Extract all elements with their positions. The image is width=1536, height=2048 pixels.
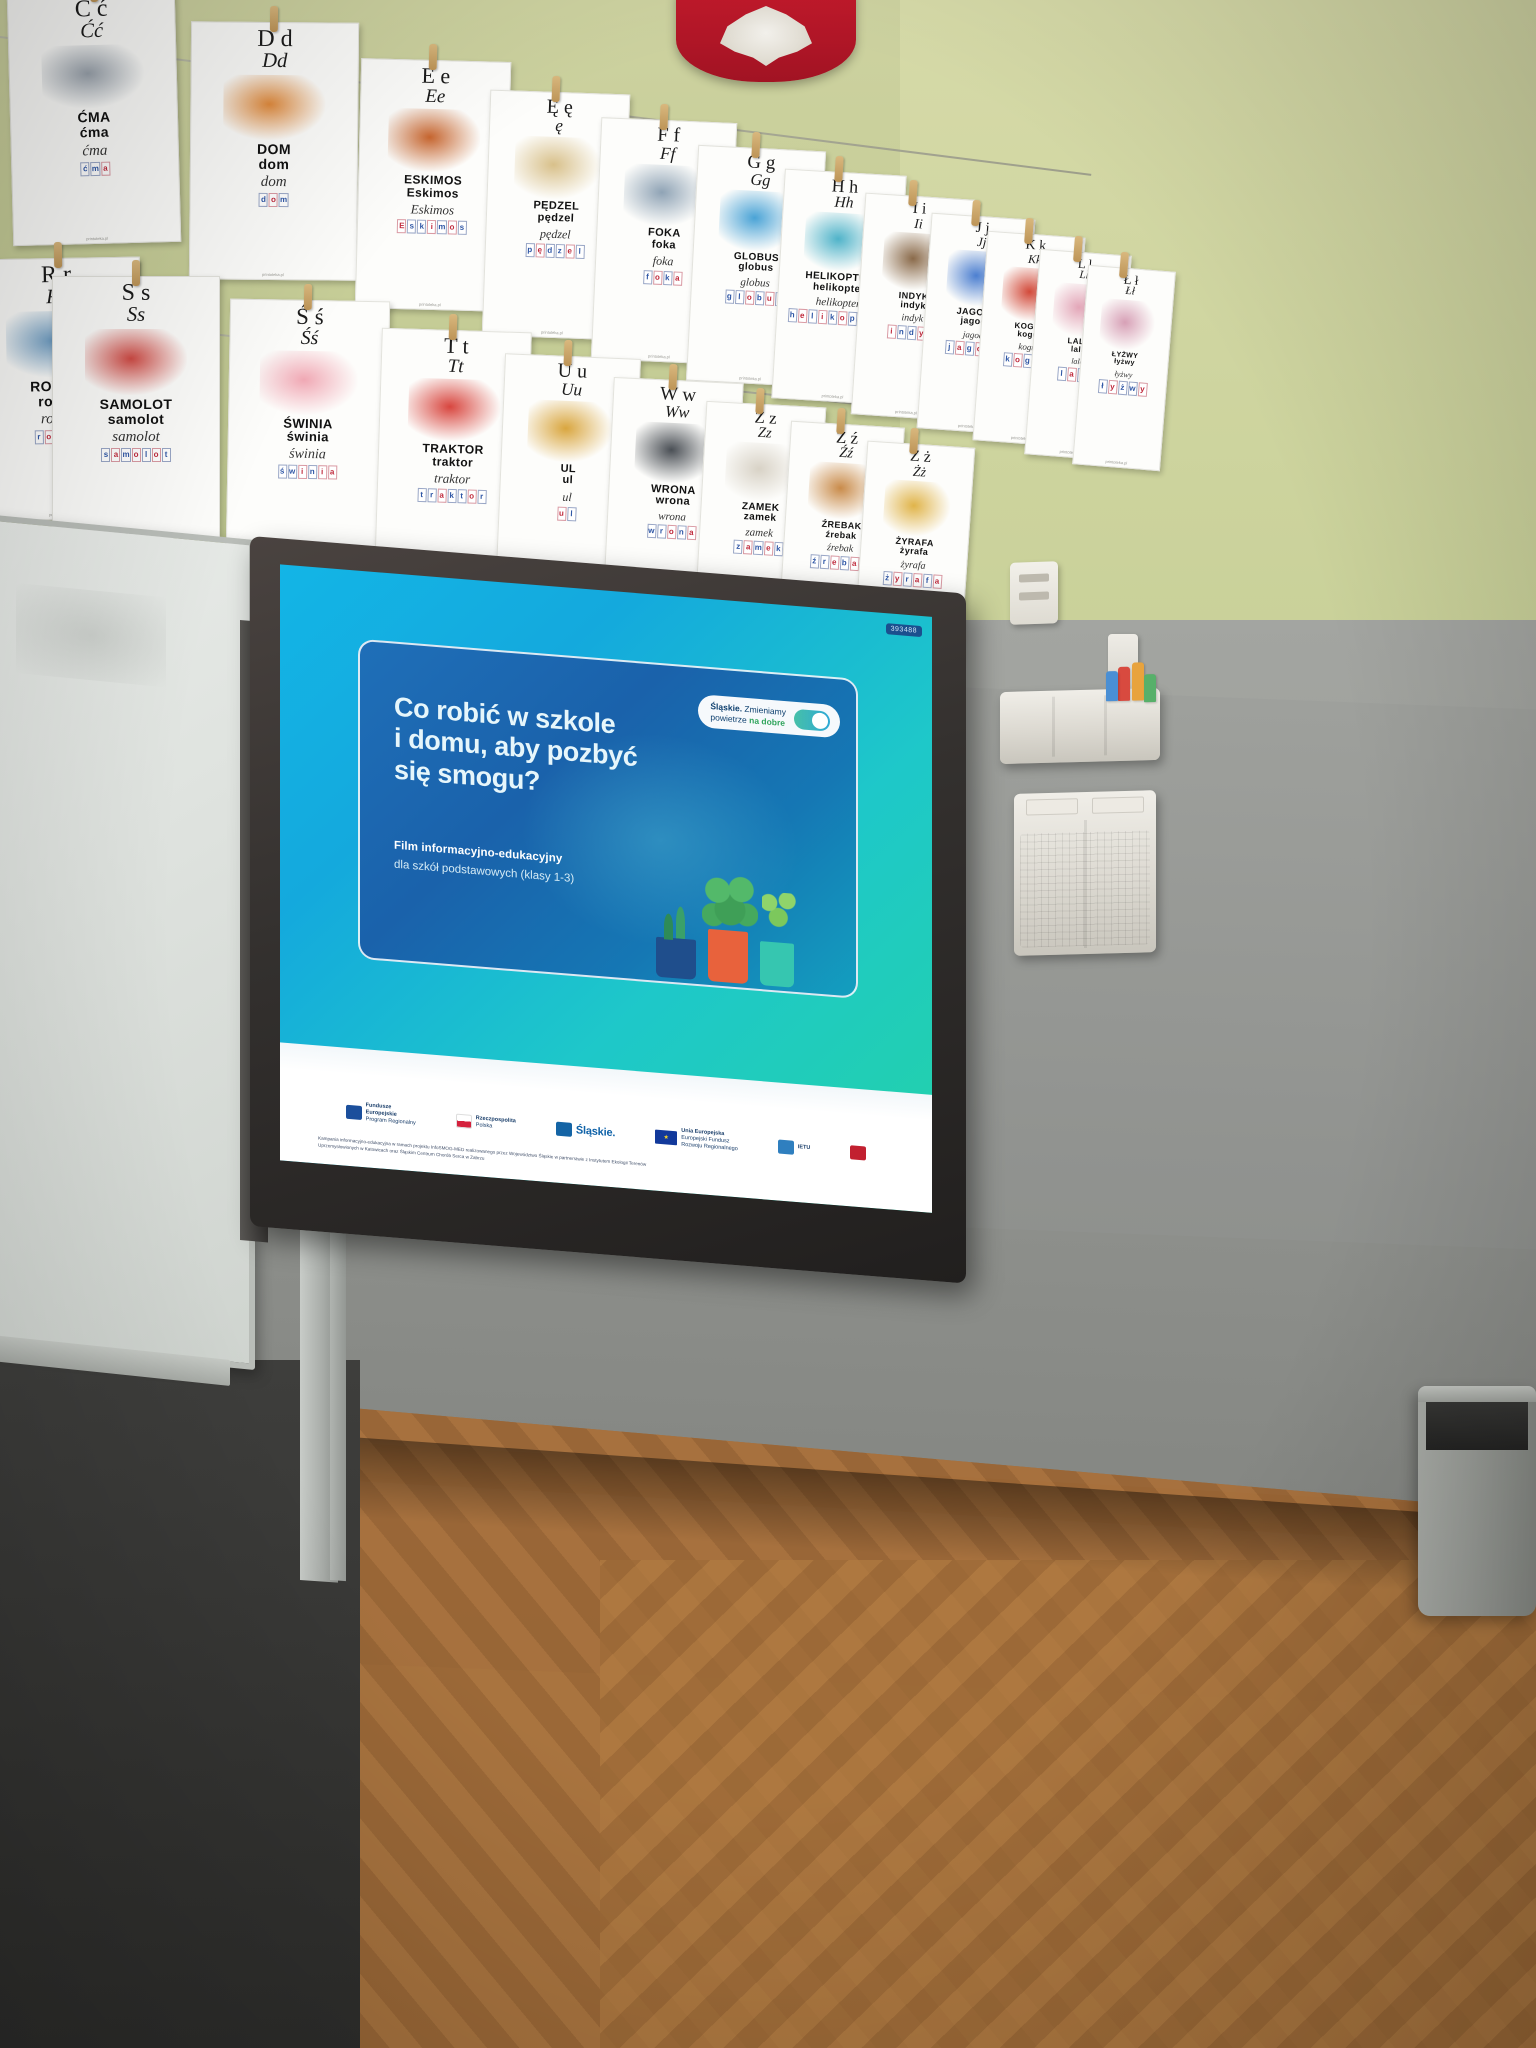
card-brand: printoteka.pl <box>895 409 917 417</box>
letter-tile: ć <box>81 162 90 176</box>
letter-tile: b <box>754 291 764 305</box>
card-word: PĘDZELpędzel <box>533 201 580 226</box>
alphabet-card: D dDdDOMdomdomdomprintoteka.pl <box>189 21 359 280</box>
letter-tile: a <box>111 448 120 462</box>
clothespin-icon <box>270 6 278 32</box>
letter-tile: k <box>417 220 426 234</box>
clothespin-icon <box>668 364 677 390</box>
letter-tile: i <box>886 325 896 340</box>
clothespin-icon <box>755 388 764 414</box>
letter-tile: o <box>152 448 161 462</box>
clothespin-icon <box>54 242 62 268</box>
letter-tile: r <box>657 524 667 538</box>
card-letter: H hHh <box>830 176 858 212</box>
card-letter-tiles: globus <box>725 289 785 306</box>
card-script-word: globus <box>740 276 770 290</box>
alphabet-card: Ć ćĆćĆMAćmaćmaćmaprintoteka.pl <box>7 0 182 246</box>
display-screen[interactable]: 393488 Co robić w szkole i domu, aby poz… <box>280 564 932 1212</box>
pot-orange <box>708 929 748 984</box>
letter-tile: a <box>686 526 696 540</box>
letter-tile: y <box>1107 380 1117 395</box>
logo-rzeczpospolita-polska: Rzeczpospolita Polska <box>456 1113 516 1132</box>
card-letter: S sSs <box>122 281 151 327</box>
card-script-word: źrebak <box>827 542 854 555</box>
letter-tile: r <box>34 431 43 445</box>
card-letter-tiles: samolot <box>101 448 170 462</box>
house-icon <box>223 74 326 140</box>
card-script-word: żyrafa <box>900 559 926 572</box>
giraffe-icon <box>882 479 951 538</box>
letter-tile: r <box>902 572 912 587</box>
card-letter-tiles: łyżwy <box>1097 379 1147 397</box>
letter-tile: a <box>743 540 753 554</box>
storage-caddy[interactable] <box>1014 790 1156 956</box>
card-word: ŚWINIAświnia <box>283 416 333 444</box>
slaskie-label: Śląskie. <box>576 1124 615 1139</box>
card-letter: E eEe <box>421 65 451 107</box>
card-script-word: traktor <box>434 471 471 488</box>
caddy-label-1 <box>1026 798 1078 815</box>
alphabet-frieze: Ć ćĆćĆMAćmaćmaćmaprintoteka.plD dDdDOMdo… <box>0 0 1536 620</box>
plants-illustration <box>650 820 820 994</box>
letter-tile: a <box>101 161 110 175</box>
card-script-word: dom <box>261 174 287 191</box>
badge-line2: powietrze <box>710 712 749 725</box>
card-script-word: pędzel <box>540 227 571 243</box>
letter-tile: a <box>673 272 683 286</box>
letter-tile: l <box>142 448 151 462</box>
clothespin-icon <box>449 314 458 340</box>
alphabet-card: Ł łŁłŁYŻWYłyżwyłyżwyłyżwyprintoteka.pl <box>1072 265 1176 471</box>
letter-tile: k <box>1002 353 1012 368</box>
letter-tile: e <box>565 245 574 259</box>
outlet-slot-1 <box>1019 573 1049 582</box>
plant-grass-2 <box>676 906 685 939</box>
letter-tile: m <box>91 162 100 176</box>
letter-tile: i <box>427 220 436 234</box>
ietu-mark-icon <box>778 1139 794 1154</box>
card-word: FOKAfoka <box>647 228 681 253</box>
alphabet-card: Ś śŚśŚWINIAświniaświniaświniaprintoteka.… <box>226 299 390 554</box>
card-letter-tiles: świnia <box>278 464 337 479</box>
card-letter-tiles: Eskimos <box>397 219 466 235</box>
tractor-icon <box>408 377 502 442</box>
letter-tile: ł <box>1097 379 1107 394</box>
eu-flag-icon <box>655 1129 677 1145</box>
letter-tile: o <box>653 271 663 285</box>
logo-partner-red <box>850 1145 866 1160</box>
letter-tile: w <box>1127 381 1137 396</box>
letter-tile: o <box>837 311 847 326</box>
caddy-mesh-texture <box>1020 830 1150 947</box>
letter-tile: e <box>797 309 807 324</box>
card-letter-tiles: foka <box>643 271 683 287</box>
letter-tile: i <box>817 310 827 325</box>
letter-tile: r <box>427 489 436 503</box>
letter-tile: d <box>545 244 554 258</box>
card-script-word: ul <box>562 490 572 505</box>
card-brand: printoteka.pl <box>262 272 284 279</box>
letter-tile: d <box>906 326 916 341</box>
fundusze-label: Fundusze Europejskie Program Regionalny <box>366 1103 416 1128</box>
card-letter: Ć ćĆć <box>74 0 108 43</box>
card-brand: printoteka.pl <box>821 393 843 401</box>
whiteboard[interactable] <box>0 514 255 1370</box>
letter-tile: j <box>944 340 954 355</box>
letter-tile: l <box>567 507 577 521</box>
letter-tile: e <box>829 556 839 571</box>
parquet-floor-detail <box>600 1560 1536 2048</box>
card-word: ŻYRAFAżyrafa <box>895 537 935 558</box>
slaskie-mark-icon <box>556 1121 572 1136</box>
letter-tile: n <box>896 325 906 340</box>
card-word: DOMdom <box>257 142 291 172</box>
card-script-word: łyżwy <box>1114 369 1132 379</box>
letter-tile: m <box>279 193 288 207</box>
display-bezel: 393488 Co robić w szkole i domu, aby poz… <box>250 536 966 1284</box>
letter-tile: l <box>575 245 584 259</box>
card-brand: printoteka.pl <box>648 353 670 361</box>
letter-tile: f <box>643 271 653 285</box>
waste-bin[interactable] <box>1418 1386 1536 1616</box>
logo-slaskie: Śląskie. <box>556 1121 615 1140</box>
moth-icon <box>41 43 146 110</box>
card-script-word: indyk <box>901 313 923 325</box>
letter-tile: s <box>407 220 416 234</box>
card-script-word: samolot <box>112 429 160 446</box>
letter-tile: n <box>676 525 686 539</box>
plant-bush <box>702 870 758 937</box>
power-outlet[interactable] <box>1010 561 1058 625</box>
card-script-word: Eskimos <box>410 202 454 219</box>
card-script-word: foka <box>652 254 673 270</box>
letter-tile: t <box>457 489 466 503</box>
letter-tile: E <box>397 219 406 233</box>
letter-tile: p <box>847 312 857 327</box>
caddy-divider-2 <box>1104 695 1107 755</box>
card-letter-tiles: zamek <box>733 540 783 557</box>
letter-tile: g <box>964 341 974 356</box>
card-word: WRONAwrona <box>650 484 696 509</box>
card-script-word: wrona <box>658 510 686 523</box>
letter-tile: u <box>764 291 774 305</box>
marker-orange[interactable] <box>1132 662 1144 700</box>
eskimo-icon <box>387 108 480 174</box>
logo-ietu: IETU <box>778 1139 811 1156</box>
slide-headline: Co robić w szkole i domu, aby pozbyć się… <box>394 692 724 812</box>
card-letter-tiles: traktor <box>417 488 486 504</box>
pot-teal <box>760 941 794 988</box>
letter-tile: u <box>557 506 567 520</box>
card-word: ZAMEKzamek <box>741 502 780 525</box>
letter-tile: r <box>477 490 486 504</box>
letter-tile: z <box>555 244 564 258</box>
letter-tile: a <box>328 465 337 479</box>
screen-code-badge: 393488 <box>886 623 922 637</box>
card-letter: G gGg <box>746 152 776 189</box>
letter-tile: m <box>753 541 763 555</box>
letter-tile: f <box>922 573 932 588</box>
clothespin-icon <box>836 408 846 434</box>
ietu-label: IETU <box>798 1144 811 1152</box>
card-letter: U uUu <box>557 360 588 399</box>
clothespin-icon <box>751 132 760 158</box>
letter-tile: ś <box>278 464 287 478</box>
ice-skates-icon <box>1099 298 1156 353</box>
letter-tile: ż <box>882 571 892 586</box>
rp-label: Rzeczpospolita Polska <box>476 1115 516 1132</box>
pot-blue <box>656 937 696 980</box>
caddy-divider-1 <box>1052 697 1055 757</box>
fundusze-mark-icon <box>346 1104 362 1119</box>
letter-tile: a <box>1066 368 1076 383</box>
card-script-word: helikopter <box>815 296 860 311</box>
letter-tile: m <box>121 448 130 462</box>
card-brand: printoteka.pl <box>739 375 761 383</box>
letter-tile: a <box>437 489 446 503</box>
whiteboard-smudge <box>16 583 166 687</box>
clothespin-icon <box>908 180 918 206</box>
caddy-label-2 <box>1092 796 1144 813</box>
letter-tile: g <box>725 289 735 303</box>
slide-footer-band: Fundusze Europejskie Program Regionalny … <box>280 1042 932 1212</box>
letter-tile: ź <box>809 554 819 569</box>
letter-tile: o <box>269 193 278 207</box>
clothespin-icon <box>659 104 668 130</box>
card-letter-tiles: pędzel <box>525 243 584 259</box>
logo-unia-europejska: Unia Europejska Europejski Fundusz Rozwo… <box>655 1126 738 1153</box>
outlet-slot-2 <box>1019 591 1049 600</box>
plant-grass-1 <box>664 913 673 940</box>
polish-flag-icon <box>456 1113 472 1128</box>
letter-tile: o <box>132 448 141 462</box>
card-word: GLOBUSglobus <box>733 252 779 275</box>
letter-tile: d <box>259 193 268 207</box>
card-brand: printoteka.pl <box>1105 459 1127 468</box>
partner-mark-icon <box>850 1145 866 1160</box>
card-letter-tiles: wrona <box>647 524 697 540</box>
letter-tile: k <box>827 311 837 326</box>
letter-tile: o <box>1012 353 1022 368</box>
card-letter: W wWw <box>659 384 697 422</box>
letter-tile: ż <box>1117 380 1127 395</box>
card-word: ULul <box>560 463 576 487</box>
card-word: ESKIMOSEskimos <box>404 173 463 200</box>
card-letter: T tTt <box>443 335 469 377</box>
card-letter-tiles: dom <box>259 193 288 207</box>
card-word: SAMOLOTsamolot <box>100 397 173 426</box>
ue-label: Unia Europejska Europejski Fundusz Rozwo… <box>681 1128 738 1153</box>
clothespin-icon <box>132 260 140 286</box>
letter-tile: y <box>892 571 902 586</box>
plant-sprout <box>762 891 796 948</box>
letter-tile: e <box>763 541 773 555</box>
letter-tile: l <box>734 290 744 304</box>
badge-text: Śląskie. Zmieniamy powietrze na dobre <box>710 701 786 728</box>
card-letter-tiles: ul <box>557 506 577 521</box>
card-letter: D dDd <box>257 27 293 73</box>
bin-rim <box>1418 1386 1536 1402</box>
alphabet-card: S sSsSAMOLOTsamolotsamolotsamolotprintot… <box>52 276 220 538</box>
clothespin-icon <box>552 76 561 102</box>
marker-green[interactable] <box>1144 674 1156 702</box>
letter-tile: k <box>447 489 456 503</box>
letter-tile: h <box>787 308 797 323</box>
letter-tile: n <box>308 465 317 479</box>
letter-tile: b <box>839 556 849 571</box>
card-brand: printoteka.pl <box>419 302 441 310</box>
letter-tile: o <box>467 490 476 504</box>
card-word: TRAKTORtraktor <box>422 442 484 469</box>
letter-tile: y <box>1137 382 1147 397</box>
pig-icon <box>259 350 358 416</box>
letter-tile: s <box>457 221 466 235</box>
letter-tile: t <box>417 488 426 502</box>
letter-tile: s <box>101 448 110 462</box>
slide-card: Co robić w szkole i domu, aby pozbyć się… <box>358 639 858 999</box>
marker-caddy[interactable] <box>1000 688 1160 764</box>
letter-tile: l <box>1056 367 1066 382</box>
card-script-word: zamek <box>745 526 773 540</box>
card-brand: printoteka.pl <box>541 330 563 338</box>
card-script-word: ćma <box>82 143 107 161</box>
marker-blue[interactable] <box>1106 671 1118 701</box>
logo-fundusze-europejskie: Fundusze Europejskie Program Regionalny <box>346 1101 416 1127</box>
card-letter: F fFf <box>656 125 680 164</box>
letter-tile: a <box>912 573 922 588</box>
letter-tile: p <box>525 243 534 257</box>
card-letter: Ś śŚś <box>296 305 324 349</box>
card-letter: Ę ęę <box>546 97 573 136</box>
letter-tile: l <box>807 310 817 325</box>
letter-tile: t <box>162 448 171 462</box>
marker-red[interactable] <box>1118 667 1130 701</box>
card-word: ŹREBAKźrebak <box>821 520 862 541</box>
letter-tile: z <box>733 540 743 554</box>
card-script-word: świnia <box>289 447 326 464</box>
badge-line2-accent: na dobre <box>749 715 785 728</box>
letter-tile: i <box>318 465 327 479</box>
clothespin-icon <box>834 156 844 182</box>
letter-tile: i <box>298 465 307 479</box>
letter-tile: o <box>447 221 456 235</box>
toggle-switch-icon[interactable] <box>794 708 830 731</box>
clothespin-icon <box>563 340 572 366</box>
card-word: ŁYŻWYłyżwy <box>1111 351 1139 368</box>
clothespin-icon <box>304 284 312 310</box>
letter-tile: ę <box>535 244 544 258</box>
card-letter-tiles: żyrafa <box>882 571 942 589</box>
letter-tile: a <box>954 341 964 356</box>
letter-tile: w <box>288 465 297 479</box>
interactive-display[interactable]: 393488 Co robić w szkole i domu, aby poz… <box>250 536 966 1284</box>
letter-tile: m <box>437 220 446 234</box>
letter-tile: o <box>744 290 754 304</box>
card-brand: printoteka.pl <box>86 236 108 244</box>
letter-tile: o <box>667 525 677 539</box>
airplane-icon <box>85 329 188 396</box>
letter-tile: k <box>663 271 673 285</box>
clothespin-icon <box>429 44 438 70</box>
beehive-icon <box>527 399 613 463</box>
letter-tile: a <box>932 574 942 589</box>
paintbrush-icon <box>514 135 602 200</box>
card-letter-tiles: ćma <box>81 161 110 176</box>
letter-tile: w <box>647 524 657 538</box>
classroom-scene: Ć ćĆćĆMAćmaćmaćmaprintoteka.plD dDdDOMdo… <box>0 0 1536 2048</box>
letter-tile: r <box>819 555 829 570</box>
card-word: ĆMAćma <box>77 110 111 140</box>
